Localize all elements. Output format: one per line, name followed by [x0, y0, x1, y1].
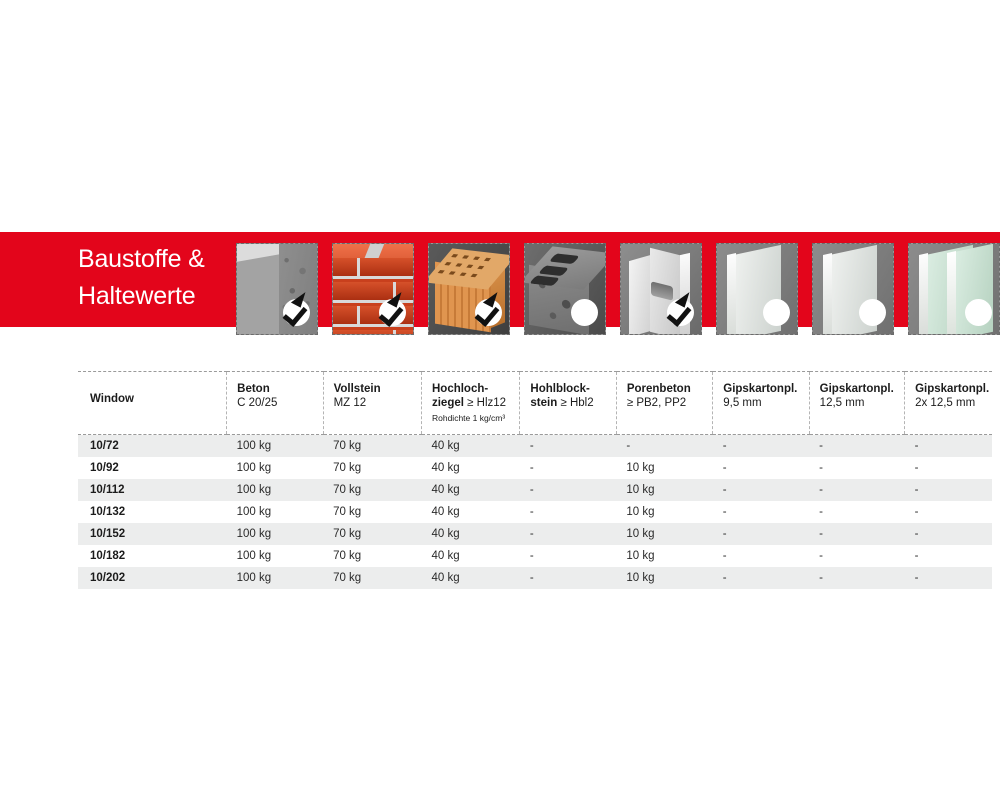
cell-value: 10 kg: [616, 457, 712, 479]
col-header-gipskarton-95: Gipskartonpl. 9,5 mm: [713, 372, 809, 435]
thumb-porenbeton[interactable]: [620, 243, 702, 335]
col-header-beton: Beton C 20/25: [227, 372, 323, 435]
haltewerte-table: Window Beton C 20/25 Vollstein MZ 12 Hoc…: [78, 371, 992, 589]
cell-value: 40 kg: [421, 567, 519, 589]
table-row: 10/152100 kg70 kg40 kg-10 kg---: [78, 523, 992, 545]
cell-value: 100 kg: [227, 545, 323, 567]
cell-value: -: [905, 523, 992, 545]
cell-value: -: [905, 457, 992, 479]
table-header-row: Window Beton C 20/25 Vollstein MZ 12 Hoc…: [78, 372, 992, 435]
cell-window: 10/72: [78, 435, 227, 458]
cell-value: -: [713, 545, 809, 567]
thumb-vollstein[interactable]: [332, 243, 414, 335]
table-body: 10/72100 kg70 kg40 kg-----10/92100 kg70 …: [78, 435, 992, 590]
cell-value: 70 kg: [323, 479, 421, 501]
cell-value: -: [520, 567, 616, 589]
cell-window: 10/152: [78, 523, 227, 545]
cell-window: 10/182: [78, 545, 227, 567]
cell-value: 100 kg: [227, 457, 323, 479]
table-row: 10/72100 kg70 kg40 kg-----: [78, 435, 992, 458]
check-icon-hochlochziegel: [475, 299, 502, 326]
thumb-hochlochziegel[interactable]: [428, 243, 510, 335]
thumb-gipskarton-95[interactable]: [716, 243, 798, 335]
cell-value: -: [616, 435, 712, 458]
col-header-porenbeton: Porenbeton ≥ PB2, PP2: [616, 372, 712, 435]
cell-value: -: [520, 435, 616, 458]
cell-value: -: [520, 501, 616, 523]
col-header-window: Window: [78, 372, 227, 435]
material-thumbnail-strip: [0, 243, 1000, 335]
cell-value: 10 kg: [616, 479, 712, 501]
cell-value: -: [905, 567, 992, 589]
cell-value: 70 kg: [323, 567, 421, 589]
col-header-hohlblockstein: Hohlblock- stein ≥ Hbl2: [520, 372, 616, 435]
cell-value: -: [905, 479, 992, 501]
circle-icon-gipskarton-95: [763, 299, 790, 326]
cell-value: -: [520, 523, 616, 545]
cell-value: 100 kg: [227, 567, 323, 589]
check-icon-beton: [283, 299, 310, 326]
cell-value: -: [809, 457, 904, 479]
cell-value: 100 kg: [227, 479, 323, 501]
cell-value: -: [905, 435, 992, 458]
cell-value: -: [520, 457, 616, 479]
cell-value: 70 kg: [323, 435, 421, 458]
col-header-gipskarton-125: Gipskartonpl. 12,5 mm: [809, 372, 904, 435]
check-icon-vollstein: [379, 299, 406, 326]
cell-window: 10/132: [78, 501, 227, 523]
cell-value: 10 kg: [616, 567, 712, 589]
cell-value: -: [809, 501, 904, 523]
cell-value: -: [713, 501, 809, 523]
cell-value: 10 kg: [616, 501, 712, 523]
cell-value: -: [713, 523, 809, 545]
table-row: 10/92100 kg70 kg40 kg-10 kg---: [78, 457, 992, 479]
cell-value: 70 kg: [323, 457, 421, 479]
thumb-gipskarton-2x125[interactable]: [908, 243, 1000, 335]
circle-icon-hohlblockstein: [571, 299, 598, 326]
col-header-hochlochziegel: Hochloch- ziegel ≥ Hlz12 Rohdichte 1 kg/…: [421, 372, 519, 435]
cell-value: -: [809, 567, 904, 589]
cell-value: 40 kg: [421, 435, 519, 458]
table-row: 10/112100 kg70 kg40 kg-10 kg---: [78, 479, 992, 501]
cell-value: -: [713, 435, 809, 458]
thumb-gipskarton-125[interactable]: [812, 243, 894, 335]
cell-value: 70 kg: [323, 523, 421, 545]
col-header-gipskarton-2x125: Gipskartonpl. 2x 12,5 mm: [905, 372, 992, 435]
circle-icon-gipskarton-125: [859, 299, 886, 326]
cell-value: 70 kg: [323, 501, 421, 523]
haltewerte-table-wrapper: Window Beton C 20/25 Vollstein MZ 12 Hoc…: [78, 371, 992, 589]
thumb-hohlblockstein[interactable]: [524, 243, 606, 335]
cell-value: -: [809, 479, 904, 501]
cell-value: -: [713, 567, 809, 589]
table-row: 10/202100 kg70 kg40 kg-10 kg---: [78, 567, 992, 589]
cell-value: -: [713, 479, 809, 501]
table-row: 10/132100 kg70 kg40 kg-10 kg---: [78, 501, 992, 523]
cell-value: 100 kg: [227, 501, 323, 523]
cell-value: -: [809, 435, 904, 458]
cell-value: 40 kg: [421, 501, 519, 523]
cell-value: 40 kg: [421, 523, 519, 545]
cell-window: 10/92: [78, 457, 227, 479]
cell-value: -: [809, 523, 904, 545]
cell-value: -: [520, 479, 616, 501]
cell-value: -: [809, 545, 904, 567]
circle-icon-gipskarton-2x125: [965, 299, 992, 326]
cell-value: 10 kg: [616, 545, 712, 567]
thumb-beton[interactable]: [236, 243, 318, 335]
page-root: Baustoffe & Haltewerte: [0, 0, 1000, 800]
cell-value: 100 kg: [227, 435, 323, 458]
table-row: 10/182100 kg70 kg40 kg-10 kg---: [78, 545, 992, 567]
cell-value: 40 kg: [421, 457, 519, 479]
check-icon-porenbeton: [667, 299, 694, 326]
cell-value: -: [520, 545, 616, 567]
cell-value: 40 kg: [421, 479, 519, 501]
col-header-vollstein: Vollstein MZ 12: [323, 372, 421, 435]
cell-value: -: [713, 457, 809, 479]
cell-window: 10/202: [78, 567, 227, 589]
cell-value: 100 kg: [227, 523, 323, 545]
cell-value: 70 kg: [323, 545, 421, 567]
cell-value: 10 kg: [616, 523, 712, 545]
cell-value: -: [905, 545, 992, 567]
cell-value: 40 kg: [421, 545, 519, 567]
cell-window: 10/112: [78, 479, 227, 501]
cell-value: -: [905, 501, 992, 523]
